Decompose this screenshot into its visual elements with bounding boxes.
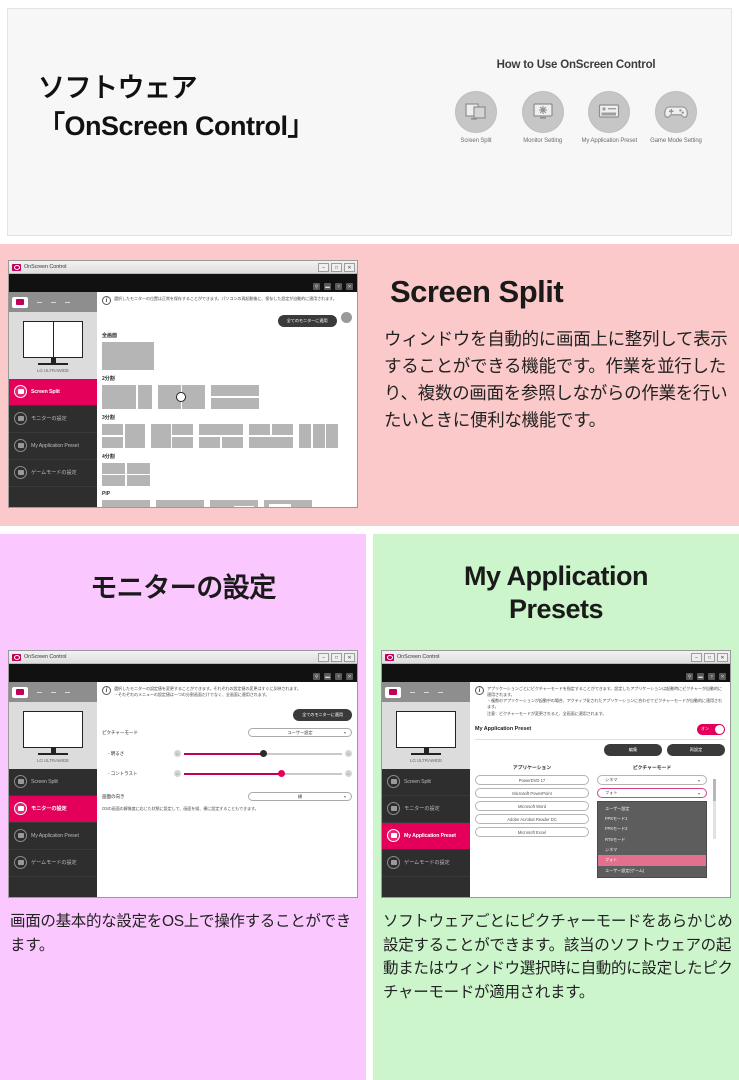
app-window-monitor-setting: OnScreen Control – □ ✕ ⚲ ▬ ? ✕ (8, 650, 358, 898)
picture-mode-dropdown[interactable]: ユーザー設定 FPSモード1 FPSモード2 RTSモード シネマ フォト ユー… (597, 801, 707, 878)
window-controls[interactable]: – □ ✕ (691, 653, 728, 662)
sidebar-divider (37, 302, 42, 303)
page-root: ソフトウェア 「OnScreen Control」 How to Use OnS… (0, 0, 739, 1080)
sidebar-item-game-mode[interactable]: ゲームモードの設定 (9, 460, 97, 487)
sidebar-item-label: モニターの設定 (31, 415, 67, 422)
window-title: OnScreen Control (397, 654, 439, 660)
main-content: i 選択したモニターの設定値を変更することができます。それぞれの設定値の変更はす… (97, 682, 357, 897)
control-contrast: - コントラスト ☼ ☼ (102, 770, 352, 777)
screen-split-text: Screen Split ウィンドウを自動的に画面上に整列して表示することができ… (382, 256, 732, 435)
dropdown-option[interactable]: ユーザー設定 (598, 803, 706, 813)
info-banner: i 選択したモニターの設定値を変更することができます。それぞれの設定値の変更はす… (102, 686, 352, 698)
apply-all-row: 全てのモニターに適用 (102, 309, 352, 327)
app-logo-icon (12, 264, 21, 271)
monitor-stand-base (38, 753, 68, 755)
toolbar-icons[interactable]: ⚲ ▬ ? ✕ (313, 283, 353, 290)
control-label: - コントラスト (102, 771, 174, 777)
section-screen-split: OnScreen Control – □ ✕ ⚲ ▬ ? ✕ (0, 244, 739, 526)
app-preset-icon (588, 91, 630, 133)
window-toolbar: ⚲ ▬ ? ✕ (382, 664, 730, 682)
minimize-icon[interactable]: ▬ (324, 283, 331, 290)
feature-monitor-setting[interactable]: Monitor Setting (513, 91, 573, 144)
window-titlebar: OnScreen Control – □ ✕ (382, 651, 730, 664)
decrease-icon[interactable]: ☼ (174, 770, 181, 777)
contrast-slider[interactable]: ☼ ☼ (174, 770, 352, 777)
section-monitor-setting: モニターの設定 OnScreen Control – □ ✕ ⚲ ▬ ? ✕ (0, 534, 366, 1080)
application-column: PowerDVD 17 Microsoft PowerPoint Microso… (475, 775, 589, 840)
close-icon[interactable]: ✕ (346, 673, 353, 680)
apply-all-row: 全てのモニターに適用 (102, 703, 352, 721)
sidebar-divider (37, 692, 42, 693)
dropdown-option[interactable]: FPSモード1 (598, 814, 706, 824)
dropdown-option[interactable]: シネマ (598, 845, 706, 855)
sidebar-item-label: モニターの設定 (404, 805, 440, 812)
scrollbar[interactable] (713, 779, 716, 839)
page-title-line1: ソフトウェア (38, 69, 314, 107)
sidebar-item-label: ゲームモードの設定 (31, 859, 77, 866)
sidebar-item-label: Screen Split (31, 779, 58, 785)
minimize-button[interactable]: – (691, 653, 702, 662)
info-text: 選択したモニターの位置は正常を保存することができます。パソコンの再起動後に、保存… (114, 296, 337, 305)
close-icon[interactable]: ✕ (719, 673, 726, 680)
app-preset-icon (14, 829, 27, 842)
section-label-pip: PIP (102, 491, 352, 497)
feature-my-application-preset[interactable]: My Application Preset (579, 91, 639, 144)
slider-fill (184, 773, 282, 775)
sidebar-divider (424, 692, 429, 693)
search-icon[interactable]: ⚲ (686, 673, 693, 680)
app-preset-icon (14, 439, 27, 452)
application-row[interactable]: Microsoft Excel (475, 827, 589, 837)
section-label-4split: 4分割 (102, 453, 352, 460)
game-mode-icon (655, 91, 697, 133)
layout-tiles-pip (102, 500, 352, 507)
preset-panel-header: My Application Preset オン (475, 724, 725, 735)
dropdown-option[interactable]: RTSモード (598, 835, 706, 845)
application-row[interactable]: Microsoft PowerPoint (475, 788, 589, 798)
sidebar-divider (65, 302, 70, 303)
preset-description: ソフトウェアごとにピクチャーモードをあらかじめ設定することができます。該当のソフ… (383, 910, 733, 1004)
layout-option[interactable] (210, 500, 258, 507)
monitor-setting-description: 画面の基本的な設定をOS上で操作することができます。 (10, 910, 358, 958)
section-label-3split: 3分割 (102, 414, 352, 421)
info-text-line3: 注意：ピクチャーモードが変更されると、全画面に適用されます。 (487, 711, 725, 717)
divider (475, 739, 725, 740)
monitor-setting-icon (522, 91, 564, 133)
monitor-preview: LG ULTRAWIDE (9, 312, 97, 379)
preset-heading: My Application Presets (373, 560, 739, 626)
picture-mode-value: フォト (605, 790, 618, 796)
feature-icon-row: Screen Split Monitor Setting (440, 91, 712, 144)
window-toolbar: ⚲ ▬ ? ✕ (9, 274, 357, 292)
picture-mode-value: シネマ (605, 777, 618, 783)
refresh-icon[interactable] (341, 312, 352, 323)
control-label: - 明るさ (102, 751, 174, 757)
app-logo-icon (12, 654, 21, 661)
monitor-model-label: LG ULTRAWIDE (9, 758, 97, 763)
sidebar-item-label: Screen Split (404, 779, 431, 785)
help-icon[interactable]: ? (335, 673, 342, 680)
sidebar-item-monitor-setting[interactable]: モニターの設定 (382, 796, 470, 823)
orientation-value: 横 (298, 794, 302, 800)
info-icon: i (475, 686, 484, 695)
window-controls[interactable]: – □ ✕ (318, 653, 355, 662)
toggle-label: オン (701, 726, 709, 732)
edit-button[interactable]: 編集 (604, 744, 662, 756)
window-titlebar: OnScreen Control – □ ✕ (9, 651, 357, 664)
preset-heading-line2: Presets (373, 593, 739, 626)
slider-track[interactable] (184, 753, 342, 755)
feature-label: Screen Split (446, 138, 506, 144)
sidebar: LG ULTRAWIDE Screen Split モニターの設定 My App… (382, 682, 470, 897)
monitor-preview: LG ULTRAWIDE (382, 702, 470, 769)
monitor-setting-icon (14, 412, 27, 425)
main-content: i アプリケーションごとにピクチャーモードを指定することができます。設定したアプ… (470, 682, 730, 897)
sidebar: LG ULTRAWIDE Screen Split モニターの設定 My App… (9, 292, 97, 507)
sidebar-item-app-preset[interactable]: My Application Preset (9, 823, 97, 850)
dropdown-option[interactable]: ユーザー設定(ゲーム) (598, 866, 706, 876)
sidebar-divider (51, 302, 56, 303)
monitor-setting-heading: モニターの設定 (0, 566, 366, 605)
preset-enable-toggle[interactable]: オン (697, 724, 725, 735)
sidebar-header (9, 682, 97, 702)
sidebar-item-app-preset[interactable]: My Application Preset (382, 823, 470, 850)
info-banner: i 選択したモニターの位置は正常を保存することができます。パソコンの再起動後に、… (102, 296, 352, 305)
control-orientation: 画面の向き 横 (102, 792, 352, 801)
sidebar-item-label: My Application Preset (31, 833, 79, 839)
page-title: ソフトウェア 「OnScreen Control」 (38, 69, 314, 146)
section-label-fullscreen: 全画面 (102, 332, 352, 339)
info-text-line2: ・それぞれのメニューの設定値は一つの分割画面だけでなく、全画面に適用されます。 (114, 692, 352, 698)
orientation-select[interactable]: 横 (248, 792, 352, 801)
orientation-footnote: OSの画面の解像度に応じた状態に設定して、画面を縦、横に設定することもできます。 (102, 806, 352, 812)
section-my-application-presets: My Application Presets OnScreen Control … (373, 534, 739, 1080)
monitor-screen-icon (23, 711, 83, 748)
window-title: OnScreen Control (24, 654, 66, 660)
layout-option[interactable] (102, 342, 154, 370)
brightness-slider[interactable]: ☼ ☼ (174, 750, 352, 757)
decrease-icon[interactable]: ☼ (174, 750, 181, 757)
screen-split-icon (455, 91, 497, 133)
minimize-icon[interactable]: ▬ (697, 673, 704, 680)
increase-icon[interactable]: ☼ (345, 750, 352, 757)
info-text-line1: アプリケーションごとにピクチャーモードを指定することができます。設定したアプリケ… (487, 686, 725, 698)
screen-split-heading: Screen Split (390, 274, 732, 310)
slider-fill (184, 753, 263, 755)
window-title: OnScreen Control (24, 264, 66, 270)
sidebar-item-label: ゲームモードの設定 (404, 859, 450, 866)
monitor-graphic (396, 711, 456, 755)
slider-knob[interactable] (260, 750, 267, 757)
column-header-application: アプリケーション (475, 764, 589, 771)
help-icon[interactable]: ? (335, 283, 342, 290)
sidebar-header (9, 292, 97, 312)
search-icon[interactable]: ⚲ (313, 283, 320, 290)
monitor-screen-icon (23, 321, 83, 358)
screen-split-icon (387, 775, 400, 788)
sidebar-item-label: モニターの設定 (31, 805, 67, 812)
sidebar-divider (65, 692, 70, 693)
preset-heading-line1: My Application (373, 560, 739, 593)
layout-tiles-4split (102, 463, 352, 487)
layout-option[interactable] (151, 424, 194, 448)
sidebar-item-game-mode[interactable]: ゲームモードの設定 (382, 850, 470, 877)
sidebar-item-label: My Application Preset (31, 443, 79, 449)
preset-column-headers: アプリケーション ピクチャーモード (475, 764, 725, 771)
sidebar-divider (438, 692, 443, 693)
info-icon: i (102, 296, 111, 305)
control-brightness: - 明るさ ☼ ☼ (102, 750, 352, 757)
control-picture-mode: ピクチャーモード ユーザー設定 (102, 728, 352, 737)
dropdown-option-selected[interactable]: フォト (598, 855, 706, 865)
window-toolbar: ⚲ ▬ ? ✕ (9, 664, 357, 682)
preset-action-buttons: 編集 再設定 (475, 744, 725, 756)
monitor-stand-base (38, 363, 68, 365)
sidebar-item-monitor-setting[interactable]: モニターの設定 (9, 796, 97, 823)
layout-option[interactable] (158, 385, 206, 409)
window-body: LG ULTRAWIDE Screen Split モニターの設定 My App… (9, 682, 357, 897)
layout-tiles-2split (102, 385, 352, 409)
minimize-button[interactable]: – (318, 263, 329, 272)
feature-screen-split[interactable]: Screen Split (446, 91, 506, 144)
layout-option[interactable] (249, 424, 293, 448)
toolbar-icons[interactable]: ⚲ ▬ ? ✕ (686, 673, 726, 680)
window-controls[interactable]: – □ ✕ (318, 263, 355, 272)
sidebar-item-label: ゲームモードの設定 (31, 469, 77, 476)
picture-mode-select[interactable]: ユーザー設定 (248, 728, 352, 737)
preset-rows: PowerDVD 17 Microsoft PowerPoint Microso… (475, 775, 725, 840)
application-row[interactable]: PowerDVD 17 (475, 775, 589, 785)
sidebar-item-label: My Application Preset (404, 833, 456, 839)
slider-knob[interactable] (278, 770, 285, 777)
reset-button[interactable]: 再設定 (667, 744, 725, 756)
picture-mode-select-open[interactable]: フォト (597, 788, 707, 798)
close-button[interactable]: ✕ (717, 653, 728, 662)
info-banner: i アプリケーションごとにピクチャーモードを指定することができます。設定したアプ… (475, 686, 725, 717)
slider-track[interactable] (184, 773, 342, 775)
layout-option[interactable] (199, 424, 243, 448)
main-content: i 選択したモニターの位置は正常を保存することができます。パソコンの再起動後に、… (97, 292, 357, 507)
howto-section: How to Use OnScreen Control Screen Split (440, 59, 712, 144)
layout-option[interactable] (211, 385, 259, 409)
monitor-setting-icon (387, 802, 400, 815)
application-row[interactable]: Adobe Acrobat Reader DC (475, 814, 589, 824)
info-text-line2: ・複数のアプリケーションが起動中の場合、アクティブ化されたアプリケーションに合わ… (487, 698, 725, 710)
close-button[interactable]: ✕ (344, 263, 355, 272)
control-label: 画面の向き (102, 794, 174, 800)
brand-logo-icon (12, 687, 28, 698)
screen-split-icon (14, 775, 27, 788)
brand-logo-icon (385, 687, 401, 698)
maximize-button[interactable]: □ (704, 653, 715, 662)
layout-option[interactable] (102, 385, 152, 409)
app-preset-icon (387, 829, 400, 842)
page-title-line2: 「OnScreen Control」 (38, 107, 314, 145)
maximize-button[interactable]: □ (331, 263, 342, 272)
window-body: LG ULTRAWIDE Screen Split モニターの設定 My App… (9, 292, 357, 507)
feature-label: My Application Preset (579, 138, 639, 144)
monitor-model-label: LG ULTRAWIDE (9, 368, 97, 373)
feature-game-mode-setting[interactable]: Game Mode Setting (646, 91, 706, 144)
sidebar-item-screen-split[interactable]: Screen Split (9, 769, 97, 796)
sidebar-item-label: Screen Split (31, 389, 60, 395)
sidebar-divider (410, 692, 415, 693)
page-header: ソフトウェア 「OnScreen Control」 How to Use OnS… (7, 8, 732, 236)
layout-tiles-3split (102, 424, 352, 448)
dropdown-option[interactable]: FPSモード2 (598, 824, 706, 834)
column-header-picture-mode: ピクチャーモード (597, 764, 707, 771)
apply-all-button[interactable]: 全てのモニターに適用 (293, 709, 352, 721)
sidebar-item-screen-split[interactable]: Screen Split (382, 769, 470, 796)
layout-option[interactable] (299, 424, 338, 448)
layout-option[interactable] (102, 500, 150, 507)
brand-logo-icon (12, 297, 28, 308)
apply-all-button[interactable]: 全てのモニターに適用 (278, 315, 337, 327)
monitor-graphic (23, 321, 83, 365)
window-body: LG ULTRAWIDE Screen Split モニターの設定 My App… (382, 682, 730, 897)
minimize-icon[interactable]: ▬ (324, 673, 331, 680)
monitor-graphic (23, 711, 83, 755)
howto-label: How to Use OnScreen Control (440, 59, 712, 71)
info-icon: i (102, 686, 111, 695)
monitor-model-label: LG ULTRAWIDE (382, 758, 470, 763)
sidebar-item-app-preset[interactable]: My Application Preset (9, 433, 97, 460)
sidebar-item-monitor-setting[interactable]: モニターの設定 (9, 406, 97, 433)
picture-mode-column: シネマ フォト ユーザー設定 FPSモード1 FPSモード2 RTSモード シネ… (597, 775, 707, 840)
app-logo-icon (385, 654, 394, 661)
toolbar-icons[interactable]: ⚲ ▬ ? ✕ (313, 673, 353, 680)
close-button[interactable]: ✕ (344, 653, 355, 662)
game-mode-icon (387, 856, 400, 869)
sidebar-item-game-mode[interactable]: ゲームモードの設定 (9, 850, 97, 877)
control-label: ピクチャーモード (102, 730, 174, 736)
layout-option[interactable] (102, 424, 145, 448)
game-mode-icon (14, 466, 27, 479)
app-window-my-application-preset: OnScreen Control – □ ✕ ⚲ ▬ ? ✕ (381, 650, 731, 898)
scrollbar-thumb[interactable] (713, 779, 716, 801)
game-mode-icon (14, 856, 27, 869)
screen-split-icon (14, 385, 27, 398)
section-label-2split: 2分割 (102, 375, 352, 382)
feature-label: Game Mode Setting (646, 138, 706, 144)
sidebar-header (382, 682, 470, 702)
sidebar-divider (51, 692, 56, 693)
maximize-button[interactable]: □ (331, 653, 342, 662)
layout-option[interactable] (264, 500, 312, 507)
layout-tiles-fullscreen (102, 342, 352, 370)
screen-split-description: ウィンドウを自動的に画面上に整列して表示することができる機能です。作業を並行した… (384, 326, 732, 435)
picture-mode-value: ユーザー設定 (287, 730, 312, 736)
preset-panel-title: My Application Preset (475, 726, 531, 732)
layout-option[interactable] (156, 500, 204, 507)
app-window-screen-split: OnScreen Control – □ ✕ ⚲ ▬ ? ✕ (8, 260, 358, 508)
monitor-screen-icon (396, 711, 456, 748)
help-icon[interactable]: ? (708, 673, 715, 680)
application-row[interactable]: Microsoft Word (475, 801, 589, 811)
sidebar-item-screen-split[interactable]: Screen Split (9, 379, 97, 406)
feature-label: Monitor Setting (513, 138, 573, 144)
minimize-button[interactable]: – (318, 653, 329, 662)
window-titlebar: OnScreen Control – □ ✕ (9, 261, 357, 274)
sidebar: LG ULTRAWIDE Screen Split モニターの設定 My App… (9, 682, 97, 897)
increase-icon[interactable]: ☼ (345, 770, 352, 777)
monitor-setting-icon (14, 802, 27, 815)
picture-mode-select[interactable]: シネマ (597, 775, 707, 785)
monitor-stand-base (411, 753, 441, 755)
close-icon[interactable]: ✕ (346, 283, 353, 290)
layout-option[interactable] (102, 463, 150, 487)
search-icon[interactable]: ⚲ (313, 673, 320, 680)
monitor-preview: LG ULTRAWIDE (9, 702, 97, 769)
